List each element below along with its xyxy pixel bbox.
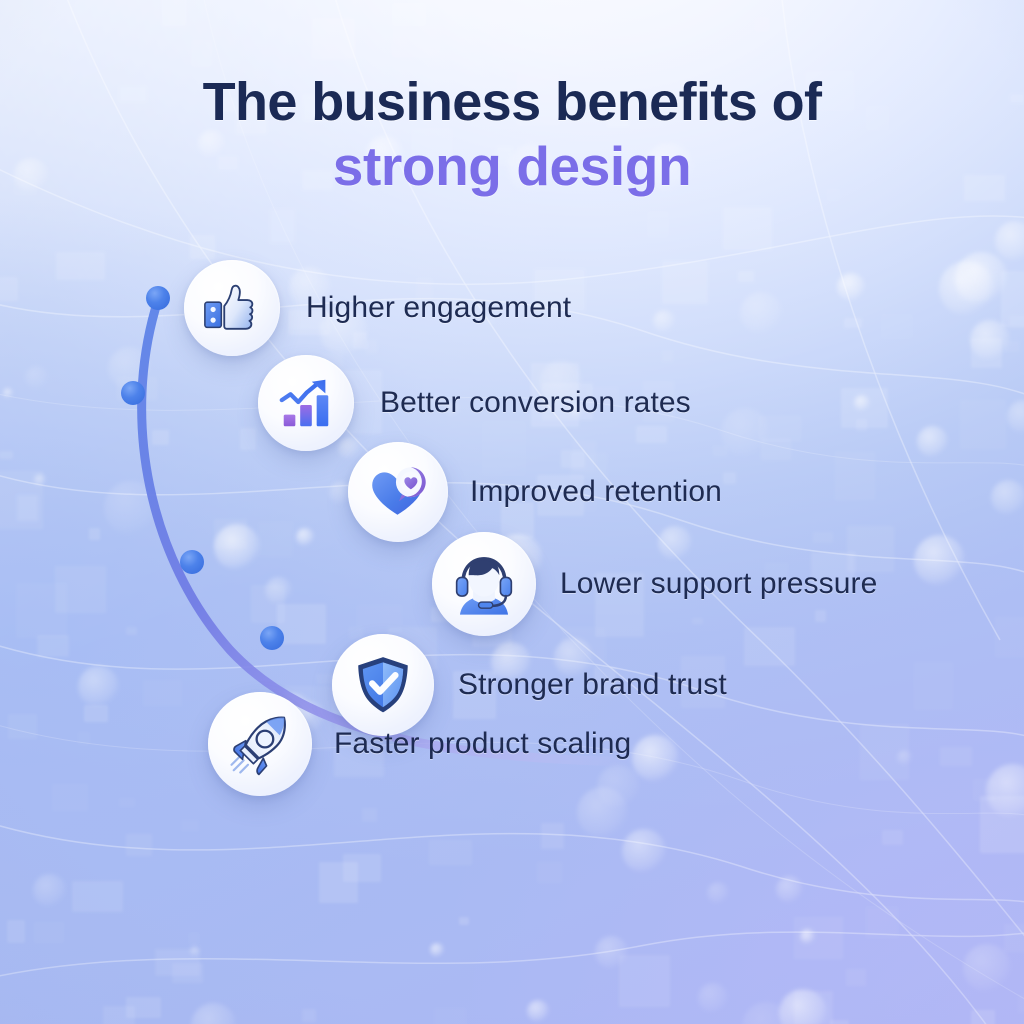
heart-chat-icon [365,459,431,525]
benefit-row-1[interactable]: Higher engagement [184,260,571,356]
benefit-icon-badge [348,442,448,542]
connector-node [146,286,170,310]
benefit-label: Faster product scaling [334,727,631,761]
benefit-label: Improved retention [470,475,722,509]
benefit-label: Higher engagement [306,291,571,325]
connector-node [180,550,204,574]
benefit-label: Better conversion rates [380,386,691,420]
benefit-icon-badge [258,355,354,451]
benefit-row-2[interactable]: Better conversion rates [258,355,691,451]
support-headset-icon [449,549,519,619]
rocket-icon [225,709,295,779]
benefit-row-4[interactable]: Lower support pressure [432,532,877,636]
connector-node [260,626,284,650]
benefit-icon-badge [184,260,280,356]
benefit-row-3[interactable]: Improved retention [348,442,722,542]
benefit-icon-badge [208,692,312,796]
thumbs-up-icon [201,277,263,339]
benefit-icon-badge [432,532,536,636]
connector-node [121,381,145,405]
growth-chart-icon [275,372,337,434]
benefit-label: Lower support pressure [560,567,877,601]
benefit-row-6[interactable]: Faster product scaling [208,692,631,796]
infographic-poster: The business benefits of strong design [0,0,1024,1024]
